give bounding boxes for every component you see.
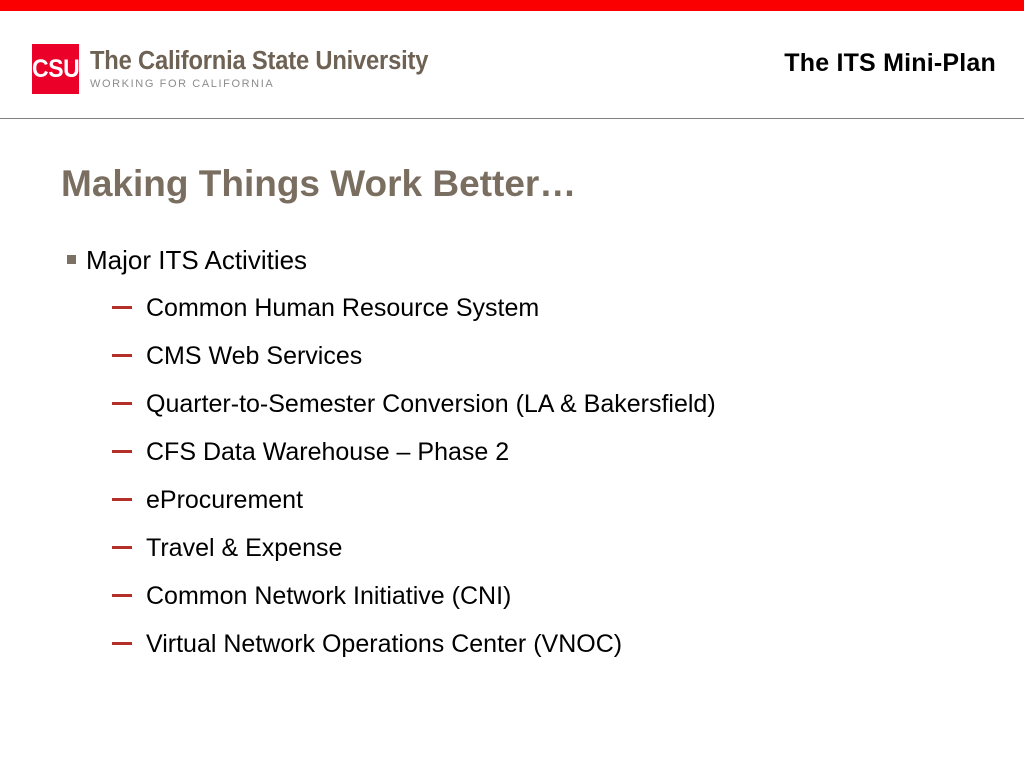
dash-bullet-icon [112, 354, 132, 357]
dash-bullet-icon [112, 450, 132, 453]
list-item-label: Major ITS Activities [86, 245, 307, 275]
list-item-label: Travel & Expense [146, 533, 342, 563]
list-item-label: CFS Data Warehouse – Phase 2 [146, 437, 509, 467]
csu-logo-tagline: WORKING FOR CALIFORNIA [90, 77, 454, 91]
list-item-label: Quarter-to-Semester Conversion (LA & Bak… [146, 389, 716, 419]
list-item-label: eProcurement [146, 485, 303, 515]
list-item-label: CMS Web Services [146, 341, 362, 371]
slide-body: Major ITS Activities Common Human Resour… [0, 236, 1024, 668]
square-bullet-icon [67, 255, 76, 264]
slide-header: CSU The California State University WORK… [0, 11, 1024, 119]
dash-bullet-icon [112, 594, 132, 597]
top-accent-bar [0, 0, 1024, 11]
header-title: The ITS Mini-Plan [784, 49, 996, 78]
presentation-slide: CSU The California State University WORK… [0, 0, 1024, 768]
list-item: Common Human Resource System [0, 284, 1024, 332]
list-item: Travel & Expense [0, 524, 1024, 572]
dash-bullet-icon [112, 498, 132, 501]
csu-logo: CSU The California State University WORK… [32, 44, 454, 94]
dash-bullet-icon [112, 546, 132, 549]
dash-bullet-icon [112, 306, 132, 309]
dash-bullet-icon [112, 402, 132, 405]
csu-logo-wordmark: The California State University [90, 48, 428, 75]
list-item: Quarter-to-Semester Conversion (LA & Bak… [0, 380, 1024, 428]
header-divider [0, 118, 1024, 119]
list-item: Major ITS Activities [0, 236, 1024, 284]
csu-logo-mark: CSU [32, 44, 79, 94]
list-item: CFS Data Warehouse – Phase 2 [0, 428, 1024, 476]
csu-logo-wordmark-group: The California State University WORKING … [90, 44, 454, 94]
list-item-label: Common Human Resource System [146, 293, 539, 323]
page-title: Making Things Work Better… [61, 161, 576, 207]
list-item: Common Network Initiative (CNI) [0, 572, 1024, 620]
csu-logo-mark-text: CSU [32, 57, 79, 82]
list-item: Virtual Network Operations Center (VNOC) [0, 620, 1024, 668]
dash-bullet-icon [112, 642, 132, 645]
list-item-label: Virtual Network Operations Center (VNOC) [146, 629, 622, 659]
list-item-label: Common Network Initiative (CNI) [146, 581, 511, 611]
list-item: eProcurement [0, 476, 1024, 524]
list-item: CMS Web Services [0, 332, 1024, 380]
